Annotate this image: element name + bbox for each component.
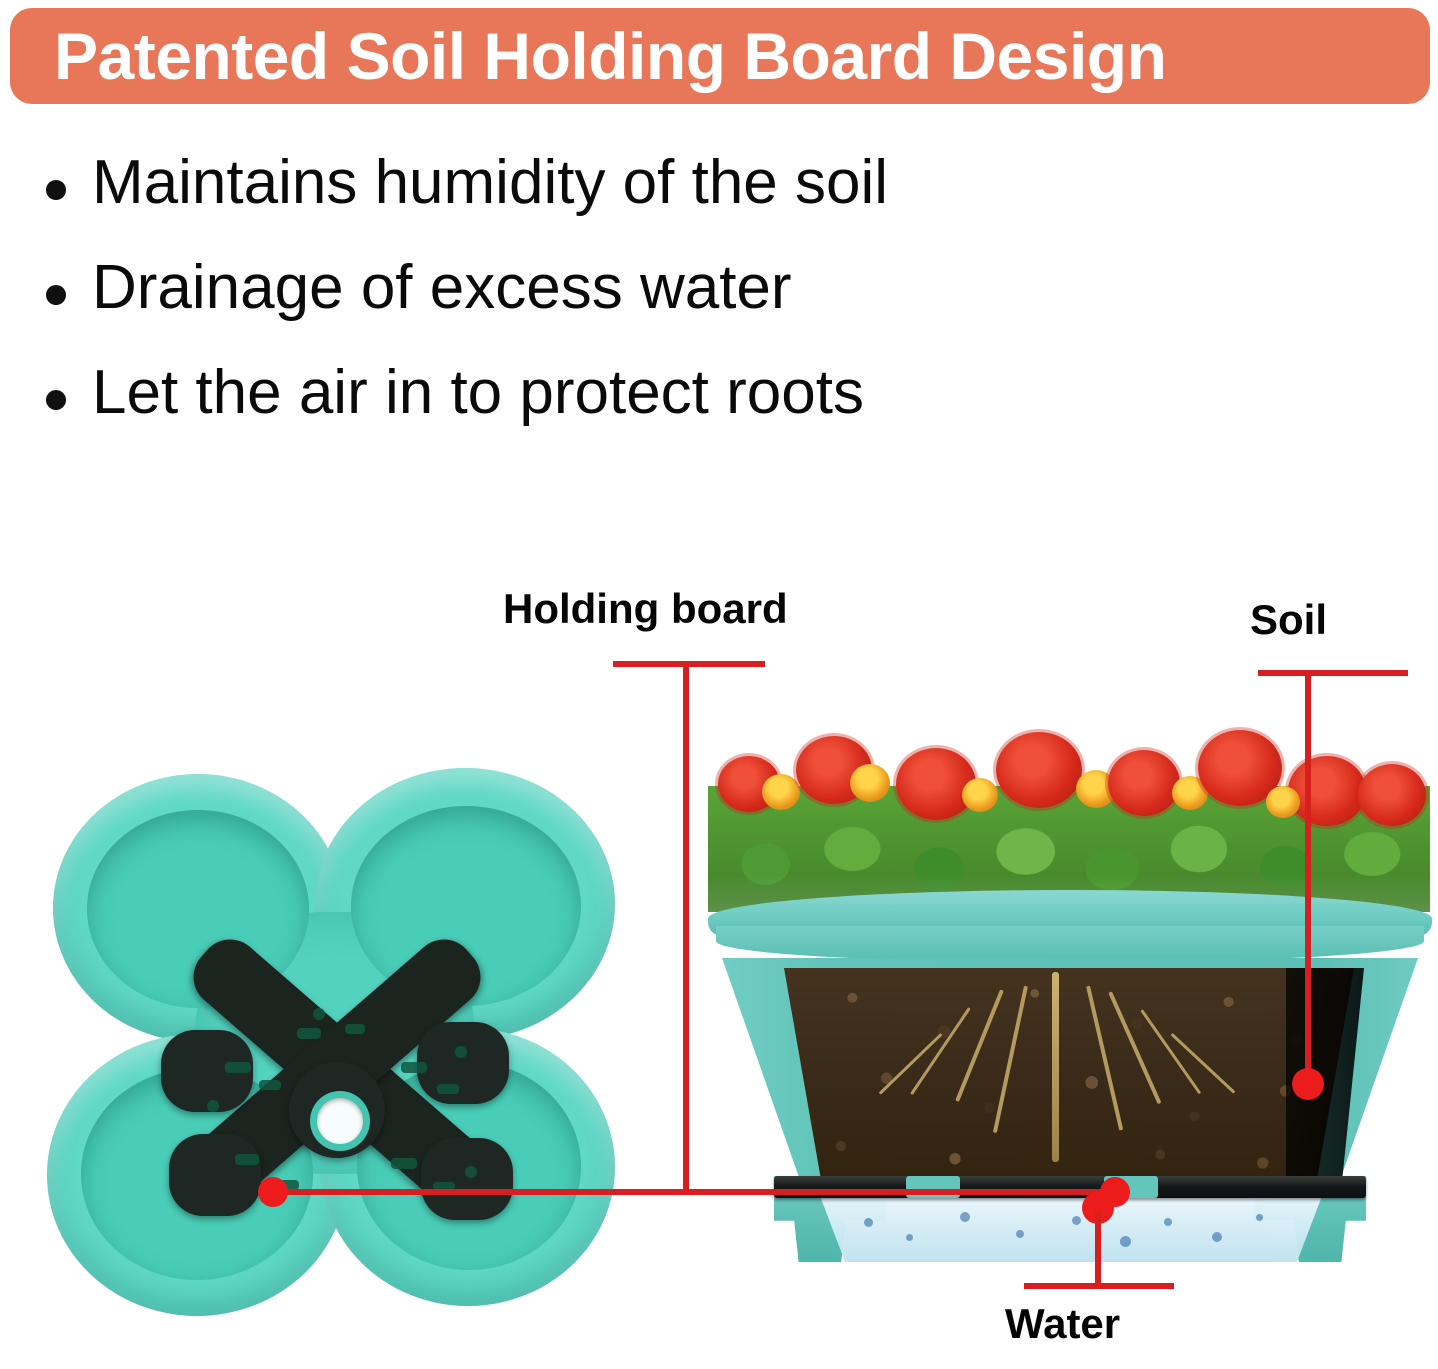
bullet-dot-icon bbox=[46, 180, 66, 200]
drainage-hole bbox=[207, 1100, 219, 1112]
clover-planter-image bbox=[45, 762, 620, 1322]
callout-label-holding-board: Holding board bbox=[503, 585, 788, 633]
amber-bud bbox=[850, 764, 890, 802]
drainage-slot bbox=[401, 1062, 427, 1073]
amber-bud bbox=[962, 778, 998, 812]
drainage-slot bbox=[297, 1028, 321, 1039]
drainage-hole bbox=[313, 1008, 325, 1020]
bubble bbox=[1072, 1216, 1081, 1225]
drainage-hole bbox=[455, 1046, 467, 1058]
pot-rim-band bbox=[716, 926, 1424, 962]
bubble bbox=[864, 1218, 873, 1227]
water-reservoir bbox=[820, 1196, 1322, 1262]
board-node bbox=[421, 1138, 513, 1220]
callout-label-soil: Soil bbox=[1250, 596, 1327, 644]
list-item: Let the air in to protect roots bbox=[46, 360, 1146, 465]
drainage-slot bbox=[437, 1084, 459, 1094]
drainage-slot bbox=[225, 1062, 251, 1073]
amber-bud bbox=[762, 774, 800, 810]
holding-board-leader-stem bbox=[683, 661, 689, 1192]
soil-layer bbox=[784, 968, 1354, 1180]
bubble bbox=[906, 1234, 913, 1241]
soil-leader-tbar bbox=[1258, 670, 1408, 676]
amber-bud bbox=[1266, 786, 1300, 818]
drainage-slot bbox=[235, 1154, 259, 1165]
red-bloom bbox=[1108, 750, 1180, 816]
holding-board-top-view bbox=[45, 762, 620, 1322]
soil-leader-stem bbox=[1305, 670, 1311, 1082]
bubble bbox=[1212, 1232, 1222, 1242]
feature-text: Maintains humidity of the soil bbox=[92, 150, 888, 215]
bubble bbox=[1016, 1230, 1024, 1238]
bubble bbox=[960, 1212, 970, 1222]
bubble bbox=[1164, 1218, 1172, 1226]
planter-cross-section-image bbox=[700, 690, 1438, 1290]
bubble bbox=[1120, 1236, 1131, 1247]
feature-list: Maintains humidity of the soil Drainage … bbox=[46, 150, 1146, 465]
feature-text: Drainage of excess water bbox=[92, 255, 792, 320]
list-item: Drainage of excess water bbox=[46, 255, 1146, 360]
drainage-slot bbox=[259, 1080, 281, 1090]
bullet-dot-icon bbox=[46, 285, 66, 305]
water-leader-tbar bbox=[1024, 1283, 1174, 1289]
holding-board-leader-tbar bbox=[613, 661, 765, 667]
red-bloom bbox=[896, 748, 976, 820]
center-drain-hole bbox=[317, 1098, 363, 1144]
holding-board-marker-left bbox=[258, 1177, 288, 1207]
callout-label-water: Water bbox=[1005, 1300, 1120, 1348]
drainage-slot bbox=[391, 1158, 417, 1169]
red-bloom bbox=[1358, 764, 1426, 826]
water-leader-stem bbox=[1095, 1212, 1101, 1287]
red-bloom bbox=[1288, 756, 1366, 826]
board-node bbox=[417, 1022, 509, 1104]
red-bloom bbox=[996, 732, 1082, 808]
root-system bbox=[1052, 972, 1059, 1162]
bubble bbox=[1256, 1214, 1263, 1221]
header-banner: Patented Soil Holding Board Design bbox=[10, 8, 1430, 104]
feature-text: Let the air in to protect roots bbox=[92, 360, 864, 425]
holding-board-leader-bridge bbox=[272, 1189, 1114, 1195]
board-node bbox=[169, 1134, 261, 1216]
page-title: Patented Soil Holding Board Design bbox=[54, 23, 1166, 89]
soil-marker bbox=[1292, 1068, 1324, 1100]
bullet-dot-icon bbox=[46, 390, 66, 410]
drainage-hole bbox=[465, 1166, 477, 1178]
drainage-slot bbox=[345, 1024, 365, 1034]
list-item: Maintains humidity of the soil bbox=[46, 150, 1146, 255]
flower-cluster bbox=[700, 690, 1438, 912]
